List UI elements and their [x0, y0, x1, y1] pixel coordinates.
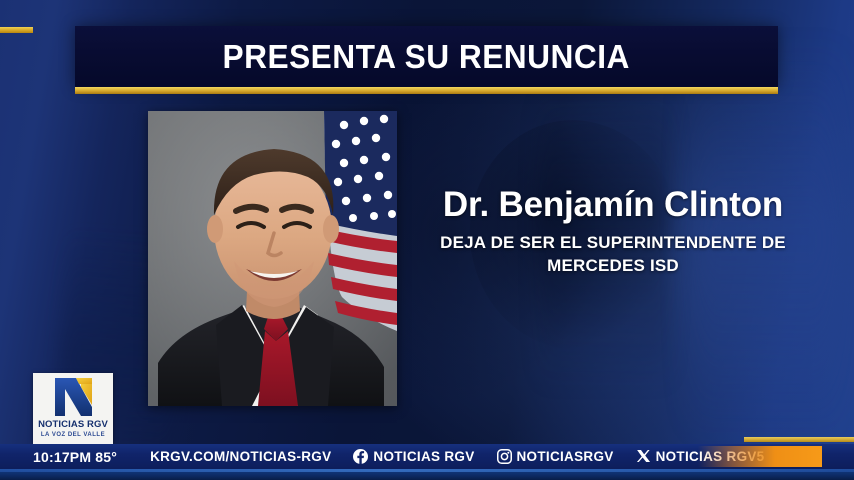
ticker-item-instagram[interactable]: NOTICIASRGV — [497, 449, 614, 464]
station-logo: NOTICIAS RGV LA VOZ DEL VALLE — [33, 373, 113, 444]
subject-name: Dr. Benjamín Clinton — [398, 186, 828, 223]
ticker-clock: 10:17PM 85° — [0, 449, 117, 465]
subject-photo — [148, 111, 397, 406]
headline-banner: PRESENTA SU RENUNCIA — [75, 26, 778, 87]
subject-info-block: Dr. Benjamín Clinton DEJA DE SER EL SUPE… — [398, 186, 828, 278]
logo-name-text: NOTICIAS RGV — [38, 420, 108, 430]
subject-portrait-illustration — [148, 111, 397, 406]
logo-tagline-text: LA VOZ DEL VALLE — [41, 432, 105, 438]
bottom-strip-glow — [0, 469, 854, 472]
headline-text: PRESENTA SU RENUNCIA — [223, 40, 630, 73]
ticker-item-facebook[interactable]: NOTICIAS RGV — [353, 449, 474, 464]
instagram-icon — [497, 449, 512, 464]
x-twitter-icon — [636, 449, 651, 464]
gold-corner-accent — [0, 27, 33, 33]
ticker-website-label: KRGV.COM/NOTICIAS-RGV — [150, 449, 331, 464]
ticker-orange-accent — [698, 446, 822, 467]
ticker-item-list: KRGV.COM/NOTICIAS-RGV NOTICIAS RGV NOTIC… — [150, 449, 786, 464]
facebook-icon — [353, 449, 368, 464]
broadcast-graphic: PRESENTA SU RENUNCIA — [0, 0, 854, 480]
ticker-item-website[interactable]: KRGV.COM/NOTICIAS-RGV — [150, 449, 331, 464]
subject-description: DEJA DE SER EL SUPERINTENDENTE DE MERCED… — [398, 232, 828, 278]
ticker-instagram-label: NOTICIASRGV — [517, 449, 614, 464]
headline-gold-underline — [75, 87, 778, 94]
noticias-rgv-n-icon — [45, 375, 101, 419]
ticker-facebook-label: NOTICIAS RGV — [373, 449, 474, 464]
ticker-gold-accent — [744, 437, 854, 442]
